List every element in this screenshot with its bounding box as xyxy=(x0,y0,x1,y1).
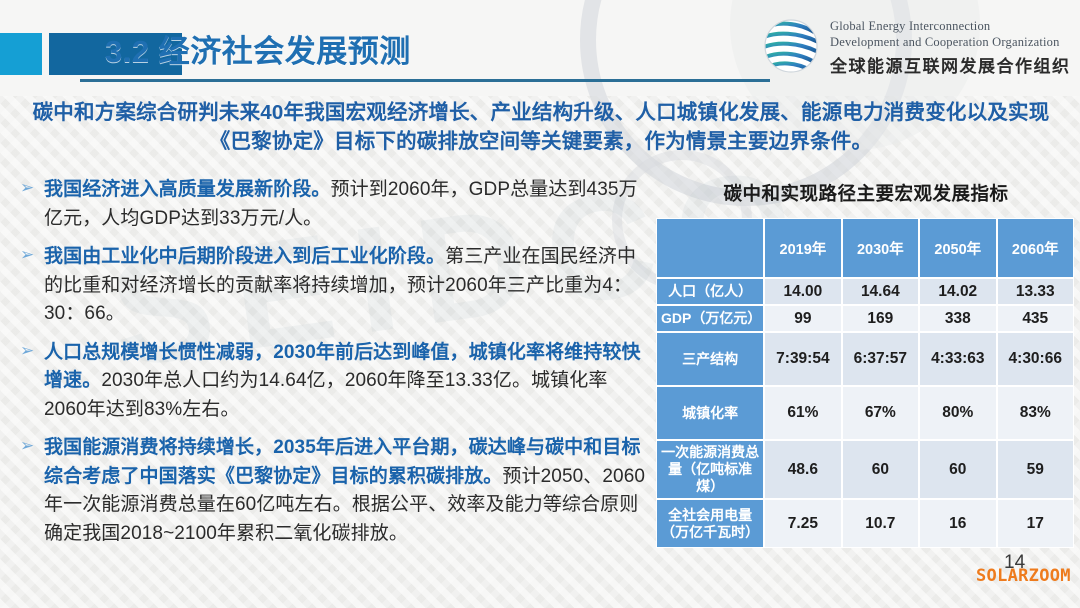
slide: SEIDCO 3.2 经济社会发展预测 xyxy=(0,0,1080,608)
logo-chinese-name: 全球能源互联网发展合作组织 xyxy=(830,52,1071,77)
table-cell: 83% xyxy=(997,386,1074,440)
table-cell: 59 xyxy=(997,440,1074,499)
table-cell: 80% xyxy=(919,386,996,440)
table-col-header: 2060年 xyxy=(997,218,1074,278)
list-item: ➢ 我国经济进入高质量发展新阶段。预计到2060年，GDP总量达到435万亿元，… xyxy=(18,176,648,233)
table-title: 碳中和实现路径主要宏观发展指标 xyxy=(660,180,1072,206)
bullet-highlight: 我国由工业化中后期阶段进入到后工业化阶段。 xyxy=(44,246,445,267)
table-col-header: 2030年 xyxy=(842,218,919,278)
macro-indicators-table: 2019年 2030年 2050年 2060年 人口（亿人） 14.00 14.… xyxy=(656,218,1074,548)
table-row: 一次能源消费总量（亿吨标准煤） 48.6 60 60 59 xyxy=(656,440,1074,499)
table-cell: 4:33:63 xyxy=(919,332,996,386)
header-square-cyan xyxy=(0,33,42,75)
table-cell: 169 xyxy=(842,305,919,332)
header-divider xyxy=(80,79,770,82)
table-cell: 17 xyxy=(997,499,1074,548)
table-cell: 67% xyxy=(842,386,919,440)
table-corner-cell xyxy=(656,218,764,278)
table-cell: 4:30:66 xyxy=(997,332,1074,386)
table-cell: 338 xyxy=(919,305,996,332)
table-row: 人口（亿人） 14.00 14.64 14.02 13.33 xyxy=(656,278,1074,305)
bullet-list: ➢ 我国经济进入高质量发展新阶段。预计到2060年，GDP总量达到435万亿元，… xyxy=(18,176,648,558)
table-row-label: 城镇化率 xyxy=(656,386,764,440)
table-row-label: 人口（亿人） xyxy=(656,278,764,305)
table-header-row: 2019年 2030年 2050年 2060年 xyxy=(656,218,1074,278)
bullet-highlight: 我国经济进入高质量发展新阶段。 xyxy=(44,179,331,200)
table-cell: 99 xyxy=(764,305,841,332)
table-row-label: 全社会用电量（万亿千瓦时） xyxy=(656,499,764,548)
bullet-arrow-icon: ➢ xyxy=(20,178,34,198)
watermark-solarzoom: SOLARZOOM xyxy=(976,566,1071,586)
logo-english-line-2: Development and Cooperation Organization xyxy=(830,35,1060,50)
table-row-label: GDP（万亿元） xyxy=(656,305,764,332)
globe-logo-icon xyxy=(762,17,820,75)
table-cell: 14.64 xyxy=(842,278,919,305)
table-row: 城镇化率 61% 67% 80% 83% xyxy=(656,386,1074,440)
table-cell: 435 xyxy=(997,305,1074,332)
bullet-arrow-icon: ➢ xyxy=(20,436,34,456)
list-item: ➢ 我国由工业化中后期阶段进入到后工业化阶段。第三产业在国民经济中的比重和对经济… xyxy=(18,243,648,329)
table-row: 全社会用电量（万亿千瓦时） 7.25 10.7 16 17 xyxy=(656,499,1074,548)
table-row: 三产结构 7:39:54 6:37:57 4:33:63 4:30:66 xyxy=(656,332,1074,386)
organization-logo: Global Energy Interconnection Developmen… xyxy=(762,14,1072,78)
lead-paragraph: 碳中和方案综合研判未来40年我国宏观经济增长、产业结构升级、人口城镇化发展、能源… xyxy=(24,98,1058,156)
list-item: ➢ 我国能源消费将持续增长，2035年后进入平台期，碳达峰与碳中和目标综合考虑了… xyxy=(18,434,648,548)
table-row-label: 一次能源消费总量（亿吨标准煤） xyxy=(656,440,764,499)
logo-english-line-1: Global Energy Interconnection xyxy=(830,19,990,34)
table-col-header: 2019年 xyxy=(764,218,841,278)
table-cell: 16 xyxy=(919,499,996,548)
table-cell: 14.02 xyxy=(919,278,996,305)
table-row: GDP（万亿元） 99 169 338 435 xyxy=(656,305,1074,332)
table-row-label: 三产结构 xyxy=(656,332,764,386)
bullet-arrow-icon: ➢ xyxy=(20,341,34,361)
table-cell: 48.6 xyxy=(764,440,841,499)
list-item: ➢ 人口总规模增长惯性减弱，2030年前后达到峰值，城镇化率将维持较快增速。20… xyxy=(18,339,648,425)
table-cell: 14.00 xyxy=(764,278,841,305)
bullet-arrow-icon: ➢ xyxy=(20,245,34,265)
table-cell: 7:39:54 xyxy=(764,332,841,386)
table-cell: 13.33 xyxy=(997,278,1074,305)
table-cell: 6:37:57 xyxy=(842,332,919,386)
bullet-body: 2030年总人口约为14.64亿，2060年降至13.33亿。城镇化率2060年… xyxy=(44,370,607,420)
table-cell: 10.7 xyxy=(842,499,919,548)
table-cell: 60 xyxy=(842,440,919,499)
table-cell: 60 xyxy=(919,440,996,499)
page-title: 3.2 经济社会发展预测 xyxy=(105,26,411,71)
table-cell: 7.25 xyxy=(764,499,841,548)
table-col-header: 2050年 xyxy=(919,218,996,278)
table-cell: 61% xyxy=(764,386,841,440)
